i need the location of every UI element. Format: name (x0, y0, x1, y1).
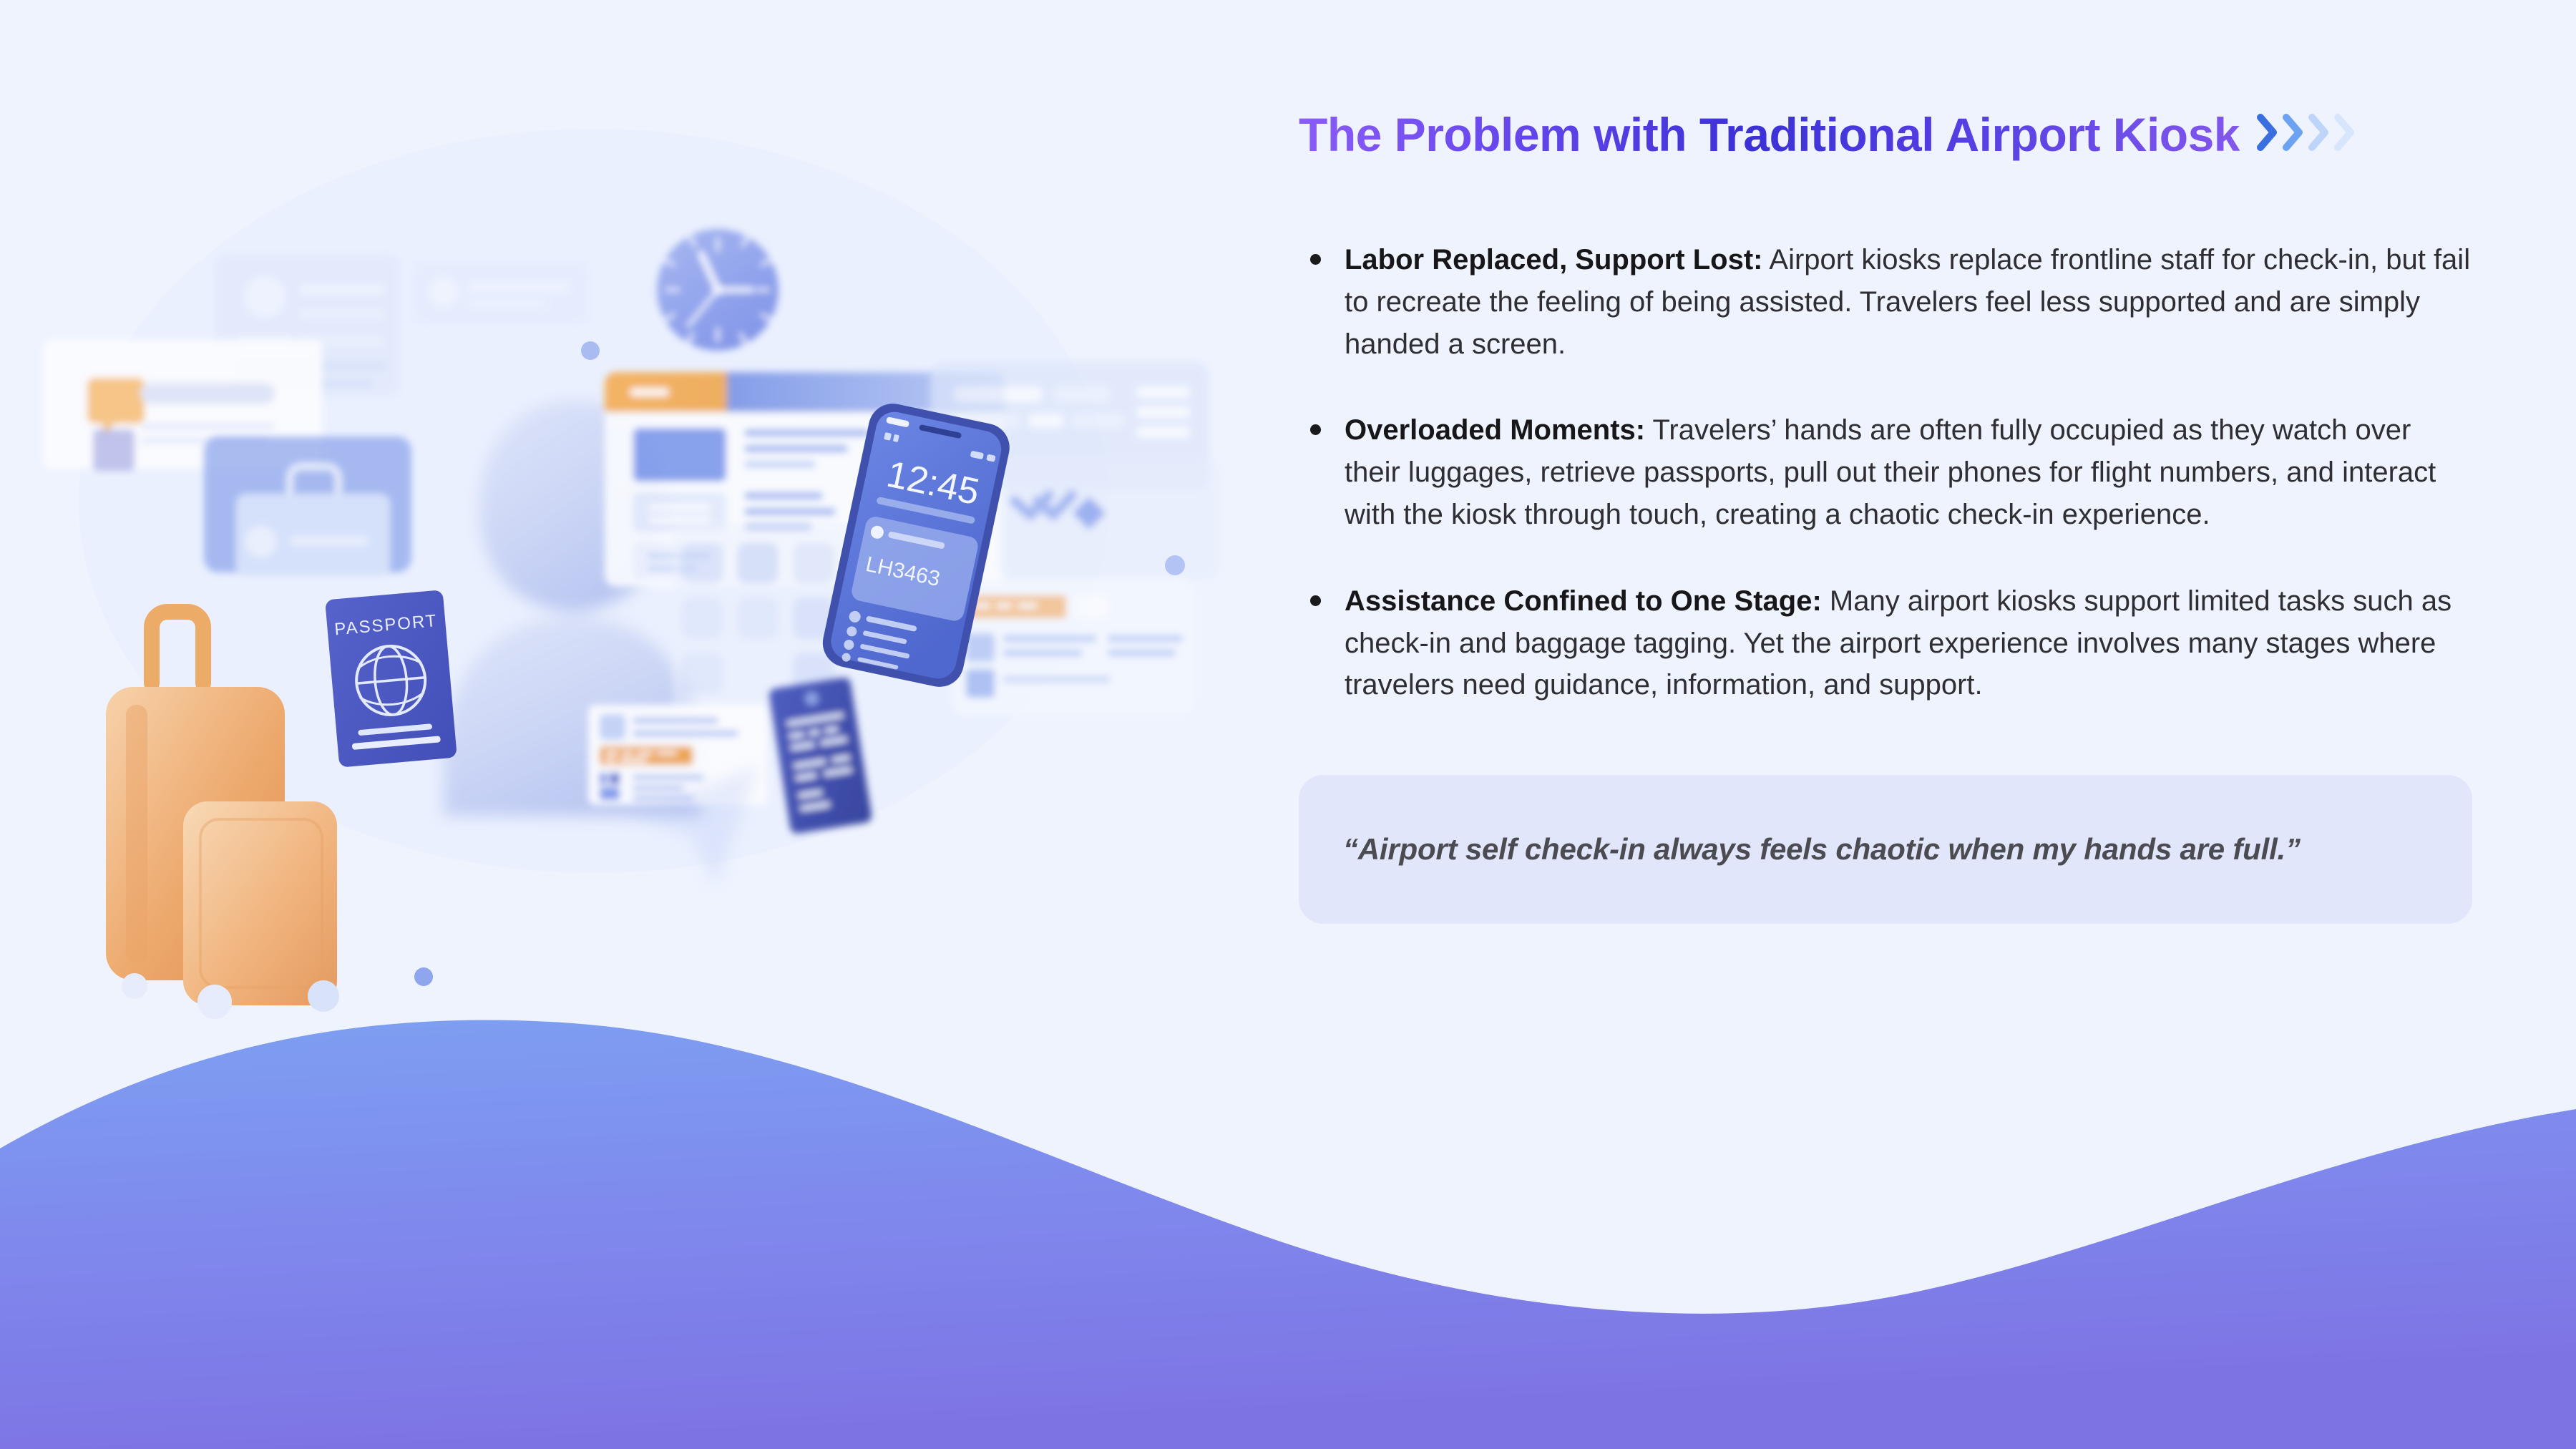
briefcase-card (204, 436, 411, 576)
page-title: The Problem with Traditional Airport Kio… (1299, 107, 2240, 162)
chevron-double-right-icon-4 (2333, 112, 2357, 153)
bullet-dot-icon (1310, 424, 1321, 435)
passport: PASSPORT (325, 590, 457, 767)
background-card-right (411, 261, 590, 326)
quote-text: “Airport self check-in always feels chao… (1343, 829, 2301, 870)
luggage-small (183, 801, 337, 1005)
chevron-marks-card (998, 458, 1220, 580)
luggage-wheel (197, 985, 232, 1019)
illustration-svg: 12:45 LH3463 PASSPORT (0, 0, 1259, 1073)
content-column: The Problem with Traditional Airport Kio… (1299, 107, 2472, 924)
list-item: Overloaded Moments: Travelers’ hands are… (1304, 409, 2472, 535)
airport-travel-illustration: 12:45 LH3463 PASSPORT (0, 0, 1259, 1073)
clock-icon (657, 229, 779, 351)
dot-accent (581, 341, 600, 360)
title-row: The Problem with Traditional Airport Kio… (1299, 107, 2472, 162)
bullet-dot-icon (1310, 254, 1321, 265)
chevrons-group (2255, 112, 2357, 153)
bullet-dot-icon (1310, 595, 1321, 606)
user-quote-card: “Airport self check-in always feels chao… (1299, 775, 2472, 924)
luggage-wheel (308, 980, 339, 1012)
chevron-double-right-icon-3 (2307, 112, 2331, 153)
chevron-double-right-icon-2 (2281, 112, 2306, 153)
bullet-lead: Overloaded Moments: (1345, 414, 1645, 446)
problem-bullet-list: Labor Replaced, Support Lost: Airport ki… (1299, 239, 2472, 706)
list-item: Assistance Confined to One Stage: Many a… (1304, 580, 2472, 706)
wave-path (0, 1020, 2576, 1449)
dot-accent (1165, 555, 1185, 575)
chevron-double-right-icon-1 (2255, 112, 2280, 153)
list-item: Labor Replaced, Support Lost: Airport ki… (1304, 239, 2472, 365)
bullet-lead: Assistance Confined to One Stage: (1345, 585, 1822, 617)
luggage-wheel (122, 973, 147, 999)
orange-banner-card (952, 580, 1195, 716)
dot-accent (414, 967, 433, 986)
bullet-lead: Labor Replaced, Support Lost: (1345, 244, 1762, 275)
